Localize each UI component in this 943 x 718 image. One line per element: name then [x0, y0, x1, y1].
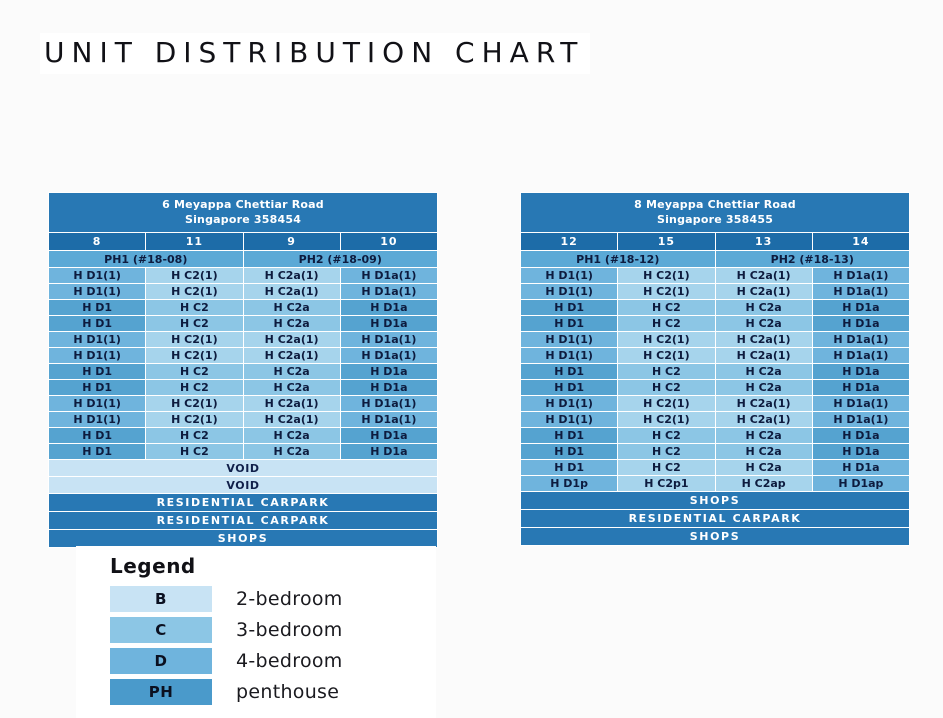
unit-cell: H D1: [521, 364, 618, 380]
table-row: H D1H C2H C2aH D1a: [521, 316, 910, 332]
unit-cell: H D1a(1): [812, 412, 909, 428]
table-row: H D1(1)H C2(1)H C2a(1)H D1a(1): [521, 284, 910, 300]
penthouse-label: PH2 (#18-13): [715, 251, 910, 268]
unit-cell: H C2a: [243, 380, 340, 396]
unit-cell: H D1a(1): [812, 332, 909, 348]
unit-cell: H D1ap: [812, 476, 909, 492]
unit-cell: H D1: [521, 444, 618, 460]
table-row: H D1(1)H C2(1)H C2a(1)H D1a(1): [521, 332, 910, 348]
table-row: H D1H C2H C2aH D1a: [521, 460, 910, 476]
table-row: H D1H C2H C2aH D1a: [521, 300, 910, 316]
unit-cell: H C2: [146, 444, 243, 460]
unit-cell: H C2: [618, 300, 715, 316]
unit-cell: H C2a: [243, 364, 340, 380]
unit-cell: H C2a(1): [243, 348, 340, 364]
unit-cell: H D1(1): [49, 396, 146, 412]
unit-cell: H D1(1): [521, 396, 618, 412]
unit-cell: H C2(1): [146, 268, 243, 284]
table-row: H D1H C2H C2aH D1a: [49, 380, 438, 396]
unit-cell: H D1a: [340, 444, 437, 460]
shops-row: SHOPS: [521, 528, 910, 546]
table-row: H D1(1)H C2(1)H C2a(1)H D1a(1): [521, 396, 910, 412]
unit-cell: H D1p: [521, 476, 618, 492]
unit-cell: H C2a: [715, 444, 812, 460]
penthouse-label: PH1 (#18-12): [521, 251, 716, 268]
unit-cell: H C2a: [715, 460, 812, 476]
unit-cell: H C2: [146, 300, 243, 316]
unit-cell: H C2a: [243, 316, 340, 332]
unit-cell: H C2ap: [715, 476, 812, 492]
unit-cell: H D1: [49, 300, 146, 316]
table-row: H D1H C2H C2aH D1a: [49, 316, 438, 332]
unit-cell: H C2a: [715, 300, 812, 316]
table-row: H D1H C2H C2aH D1a: [521, 444, 910, 460]
unit-cell: H D1(1): [521, 348, 618, 364]
unit-cell: H C2a(1): [243, 284, 340, 300]
shops-row: SHOPS: [521, 492, 910, 510]
unit-cell: H D1a: [812, 460, 909, 476]
unit-cell: H C2: [146, 364, 243, 380]
legend-swatch: PH: [110, 679, 212, 705]
table-row: H D1(1)H C2(1)H C2a(1)H D1a(1): [49, 396, 438, 412]
table-row: H D1(1)H C2(1)H C2a(1)H D1a(1): [521, 412, 910, 428]
unit-cell: H C2(1): [618, 396, 715, 412]
unit-table-right: 8 Meyappa Chettiar RoadSingapore 3584551…: [520, 192, 910, 546]
unit-cell: H D1a(1): [340, 396, 437, 412]
table-row: H D1H C2H C2aH D1a: [521, 428, 910, 444]
table-address-row: 8 Meyappa Chettiar RoadSingapore 358455: [521, 193, 910, 233]
void-row: VOID: [49, 460, 438, 477]
unit-cell: H C2a(1): [243, 412, 340, 428]
penthouse-label: PH2 (#18-09): [243, 251, 438, 268]
unit-cell: H D1a: [340, 380, 437, 396]
carpark-row: RESIDENTIAL CARPARK: [49, 512, 438, 530]
stack-number: 13: [715, 233, 812, 251]
unit-cell: H D1: [49, 316, 146, 332]
table-footer-row: SHOPS: [521, 492, 910, 510]
unit-cell: H C2(1): [618, 332, 715, 348]
table-footer-row: SHOPS: [49, 530, 438, 548]
unit-table-left: 6 Meyappa Chettiar RoadSingapore 3584548…: [48, 192, 438, 548]
stack-number: 14: [812, 233, 909, 251]
unit-cell: H C2: [618, 364, 715, 380]
page-title: UNIT DISTRIBUTION CHART: [40, 33, 590, 74]
unit-cell: H D1: [49, 364, 146, 380]
carpark-row: RESIDENTIAL CARPARK: [49, 494, 438, 512]
unit-cell: H D1a: [812, 364, 909, 380]
unit-cell: H D1: [49, 428, 146, 444]
unit-cell: H D1(1): [49, 284, 146, 300]
unit-cell: H D1a(1): [812, 396, 909, 412]
unit-cell: H D1a: [340, 428, 437, 444]
address-line-1: 8 Meyappa Chettiar Road: [634, 198, 796, 211]
unit-cell: H D1a: [340, 364, 437, 380]
unit-cell: H C2(1): [618, 412, 715, 428]
unit-cell: H C2: [618, 428, 715, 444]
table-row: H D1(1)H C2(1)H C2a(1)H D1a(1): [49, 412, 438, 428]
stack-number: 15: [618, 233, 715, 251]
stack-number-row: 12151314: [521, 233, 910, 251]
unit-cell: H D1(1): [521, 412, 618, 428]
table-address: 6 Meyappa Chettiar RoadSingapore 358454: [49, 193, 438, 233]
stack-number: 11: [146, 233, 243, 251]
penthouse-label: PH1 (#18-08): [49, 251, 244, 268]
unit-cell: H D1(1): [521, 284, 618, 300]
unit-cell: H C2a: [715, 380, 812, 396]
table-row: H D1pH C2p1H C2apH D1ap: [521, 476, 910, 492]
unit-cell: H C2: [618, 460, 715, 476]
unit-cell: H C2a: [243, 444, 340, 460]
unit-cell: H D1a(1): [812, 348, 909, 364]
unit-cell: H C2(1): [146, 332, 243, 348]
unit-cell: H D1a: [812, 300, 909, 316]
unit-cell: H D1(1): [49, 332, 146, 348]
unit-cell: H C2a: [243, 300, 340, 316]
unit-cell: H D1: [49, 380, 146, 396]
legend-item: C3-bedroom: [76, 615, 436, 644]
unit-cell: H C2: [618, 316, 715, 332]
table-row: H D1(1)H C2(1)H C2a(1)H D1a(1): [49, 348, 438, 364]
unit-cell: H D1: [521, 316, 618, 332]
stack-number: 9: [243, 233, 340, 251]
unit-cell: H C2: [146, 428, 243, 444]
unit-cell: H C2: [618, 380, 715, 396]
table-row: H D1(1)H C2(1)H C2a(1)H D1a(1): [49, 332, 438, 348]
unit-cell: H D1: [521, 428, 618, 444]
unit-cell: H C2(1): [146, 284, 243, 300]
unit-cell: H C2: [146, 380, 243, 396]
unit-cell: H C2(1): [146, 348, 243, 364]
stack-number-row: 811910: [49, 233, 438, 251]
table-footer-row: VOID: [49, 477, 438, 494]
unit-cell: H C2(1): [618, 268, 715, 284]
unit-cell: H D1a: [340, 300, 437, 316]
unit-cell: H D1a: [812, 444, 909, 460]
unit-cell: H C2a(1): [243, 396, 340, 412]
shops-row: SHOPS: [49, 530, 438, 548]
unit-cell: H D1: [521, 380, 618, 396]
carpark-row: RESIDENTIAL CARPARK: [521, 510, 910, 528]
unit-cell: H C2(1): [146, 412, 243, 428]
table-address: 8 Meyappa Chettiar RoadSingapore 358455: [521, 193, 910, 233]
penthouse-row: PH1 (#18-12)PH2 (#18-13): [521, 251, 910, 268]
unit-cell: H C2(1): [618, 284, 715, 300]
address-line-2: Singapore 358454: [49, 212, 437, 227]
unit-cell: H D1a: [812, 380, 909, 396]
unit-cell: H D1a: [812, 428, 909, 444]
legend-item: D4-bedroom: [76, 646, 436, 675]
unit-cell: H C2a(1): [715, 284, 812, 300]
unit-cell: H C2a(1): [715, 348, 812, 364]
table-row: H D1(1)H C2(1)H C2a(1)H D1a(1): [521, 268, 910, 284]
unit-cell: H C2a(1): [715, 268, 812, 284]
unit-cell: H C2(1): [146, 396, 243, 412]
table-address-row: 6 Meyappa Chettiar RoadSingapore 358454: [49, 193, 438, 233]
address-line-1: 6 Meyappa Chettiar Road: [162, 198, 324, 211]
table-footer-row: RESIDENTIAL CARPARK: [521, 510, 910, 528]
unit-cell: H C2a(1): [715, 396, 812, 412]
table-row: H D1H C2H C2aH D1a: [49, 428, 438, 444]
unit-cell: H D1(1): [49, 348, 146, 364]
legend-label: penthouse: [236, 681, 339, 703]
table-row: H D1(1)H C2(1)H C2a(1)H D1a(1): [521, 348, 910, 364]
stack-number: 8: [49, 233, 146, 251]
unit-cell: H D1a(1): [340, 332, 437, 348]
unit-cell: H C2a: [715, 364, 812, 380]
table-footer-row: RESIDENTIAL CARPARK: [49, 512, 438, 530]
unit-cell: H D1a: [812, 316, 909, 332]
unit-cell: H D1a(1): [812, 284, 909, 300]
unit-cell: H D1a(1): [812, 268, 909, 284]
unit-cell: H D1a(1): [340, 284, 437, 300]
legend-swatch: D: [110, 648, 212, 674]
stack-number: 10: [340, 233, 437, 251]
table-footer-row: RESIDENTIAL CARPARK: [49, 494, 438, 512]
unit-cell: H D1(1): [521, 268, 618, 284]
table-row: H D1(1)H C2(1)H C2a(1)H D1a(1): [49, 268, 438, 284]
legend-item: B2-bedroom: [76, 584, 436, 613]
legend-swatch: B: [110, 586, 212, 612]
legend-label: 3-bedroom: [236, 619, 343, 641]
legend: Legend B2-bedroomC3-bedroomD4-bedroomPHp…: [76, 546, 436, 718]
legend-swatch: C: [110, 617, 212, 643]
table-row: H D1H C2H C2aH D1a: [49, 444, 438, 460]
penthouse-row: PH1 (#18-08)PH2 (#18-09): [49, 251, 438, 268]
table-row: H D1(1)H C2(1)H C2a(1)H D1a(1): [49, 284, 438, 300]
legend-label: 4-bedroom: [236, 650, 343, 672]
legend-label: 2-bedroom: [236, 588, 343, 610]
table-footer-row: VOID: [49, 460, 438, 477]
unit-cell: H C2a(1): [715, 332, 812, 348]
unit-cell: H C2a(1): [243, 268, 340, 284]
stack-number: 12: [521, 233, 618, 251]
address-line-2: Singapore 358455: [521, 212, 909, 227]
unit-cell: H C2: [618, 444, 715, 460]
unit-cell: H C2a: [715, 316, 812, 332]
table-row: H D1H C2H C2aH D1a: [521, 380, 910, 396]
void-row: VOID: [49, 477, 438, 494]
unit-cell: H D1(1): [521, 332, 618, 348]
unit-cell: H D1: [521, 460, 618, 476]
unit-cell: H C2a: [715, 428, 812, 444]
table-footer-row: SHOPS: [521, 528, 910, 546]
unit-cell: H C2p1: [618, 476, 715, 492]
table-row: H D1H C2H C2aH D1a: [49, 300, 438, 316]
unit-cell: H C2a(1): [243, 332, 340, 348]
unit-cell: H D1(1): [49, 268, 146, 284]
legend-item: PHpenthouse: [76, 677, 436, 706]
table-row: H D1H C2H C2aH D1a: [49, 364, 438, 380]
unit-cell: H D1a(1): [340, 268, 437, 284]
unit-cell: H D1: [49, 444, 146, 460]
unit-cell: H D1(1): [49, 412, 146, 428]
legend-title: Legend: [110, 554, 436, 578]
unit-cell: H C2a: [243, 428, 340, 444]
unit-cell: H C2a(1): [715, 412, 812, 428]
unit-cell: H D1a: [340, 316, 437, 332]
unit-cell: H D1a(1): [340, 348, 437, 364]
unit-cell: H D1: [521, 300, 618, 316]
unit-cell: H D1a(1): [340, 412, 437, 428]
unit-cell: H C2: [146, 316, 243, 332]
table-row: H D1H C2H C2aH D1a: [521, 364, 910, 380]
unit-cell: H C2(1): [618, 348, 715, 364]
